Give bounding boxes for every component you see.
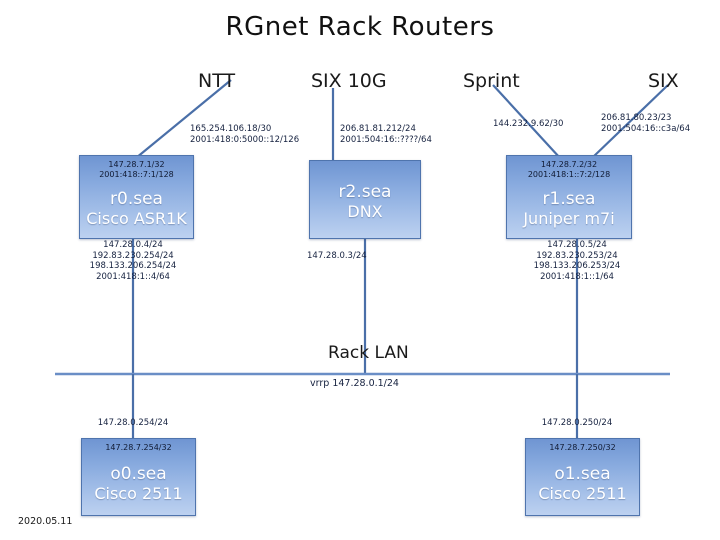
console-model-o1: Cisco 2511	[538, 484, 626, 504]
lan-ips-r1: 147.28.0.5/24 192.83.230.253/24 198.133.…	[507, 240, 647, 282]
router-model-r1: Juniper m7i	[523, 209, 614, 229]
router-name-r1: r1.sea	[543, 189, 596, 209]
router-model-r0: Cisco ASR1K	[86, 209, 187, 229]
router-node-r0[interactable]: 147.28.7.1/32 2001:418::7:1/128 r0.sea C…	[79, 155, 194, 239]
uplink-ips-six: 206.81.80.23/23 2001:504:16::c3a/64	[601, 113, 690, 134]
uplink-ips-six10g: 206.81.81.212/24 2001:504:16::????/64	[340, 124, 432, 145]
router-name-r0: r0.sea	[110, 189, 163, 209]
console-loopbacks-o1: 147.28.7.250/32	[549, 443, 615, 453]
uplink-ips-sprint: 144.232.9.62/30	[493, 119, 563, 130]
router-model-r2: DNX	[347, 202, 382, 222]
uplink-ip-o0: 147.28.0.254/24	[68, 418, 198, 429]
date-stamp: 2020.05.11	[18, 516, 72, 527]
lan-ips-r2: 147.28.0.3/24	[307, 251, 367, 262]
rack-lan-label: Rack LAN	[328, 343, 409, 363]
router-body-r1: r1.sea Juniper m7i	[507, 179, 631, 238]
router-loopbacks-r0: 147.28.7.1/32 2001:418::7:1/128	[99, 160, 174, 179]
uplink-ip-o1: 147.28.0.250/24	[512, 418, 642, 429]
router-loopbacks-r1: 147.28.7.2/32 2001:418:1::7:2/128	[528, 160, 610, 179]
router-body-r2: r2.sea DNX	[310, 165, 420, 238]
router-node-r1[interactable]: 147.28.7.2/32 2001:418:1::7:2/128 r1.sea…	[506, 155, 632, 239]
router-body-r0: r0.sea Cisco ASR1K	[80, 179, 193, 238]
console-node-o0[interactable]: 147.28.7.254/32 o0.sea Cisco 2511	[81, 438, 196, 516]
console-name-o1: o1.sea	[554, 464, 610, 484]
provider-label-ntt: NTT	[198, 70, 235, 92]
lan-ips-r0: 147.28.0.4/24 192.83.230.254/24 198.133.…	[63, 240, 203, 282]
router-name-r2: r2.sea	[339, 182, 392, 202]
console-body-o0: o0.sea Cisco 2511	[82, 453, 195, 516]
provider-label-six10g: SIX 10G	[311, 70, 387, 92]
provider-label-sprint: Sprint	[463, 70, 520, 92]
console-loopbacks-o0: 147.28.7.254/32	[105, 443, 171, 453]
router-node-r2[interactable]: r2.sea DNX	[309, 160, 421, 239]
diagram-canvas: RGnet Rack Routers NTT SIX 10G Sprint SI…	[0, 0, 720, 540]
console-name-o0: o0.sea	[110, 464, 166, 484]
provider-label-six: SIX	[648, 70, 679, 92]
vrrp-address-label: vrrp 147.28.0.1/24	[310, 378, 399, 389]
uplink-ips-ntt: 165.254.106.18/30 2001:418:0:5000::12/12…	[190, 124, 299, 145]
page-title: RGnet Rack Routers	[0, 12, 720, 42]
console-model-o0: Cisco 2511	[94, 484, 182, 504]
console-body-o1: o1.sea Cisco 2511	[526, 453, 639, 516]
console-node-o1[interactable]: 147.28.7.250/32 o1.sea Cisco 2511	[525, 438, 640, 516]
